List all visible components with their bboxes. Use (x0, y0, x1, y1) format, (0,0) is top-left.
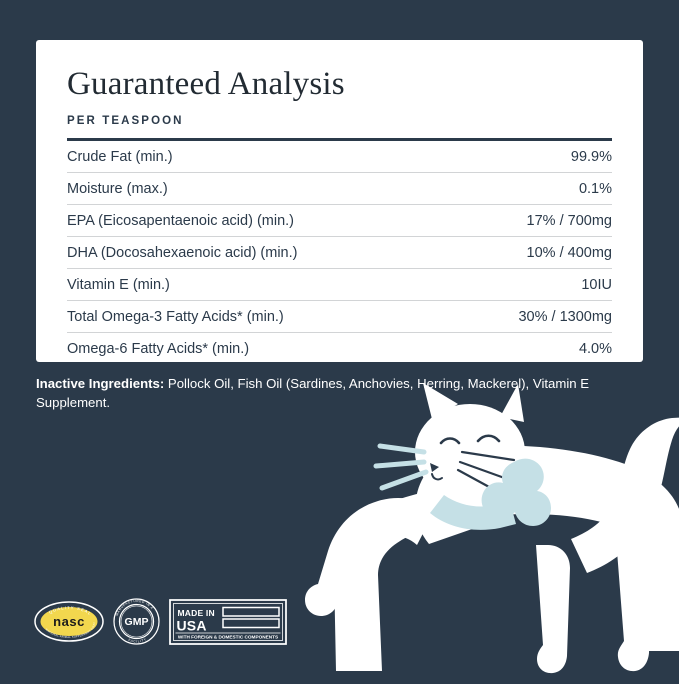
nutrient-value: 10IU (455, 269, 612, 301)
nutrient-label: Crude Fat (min.) (67, 141, 455, 173)
table-row: Crude Fat (min.) 99.9% (67, 141, 612, 173)
nutrient-label: Moisture (max.) (67, 173, 455, 205)
nutrient-value: 30% / 1300mg (455, 301, 612, 333)
gmp-main-text: GMP (125, 616, 149, 628)
inactive-ingredients: Inactive Ingredients: Pollock Oil, Fish … (36, 374, 636, 412)
table-row: Omega-6 Fatty Acids* (min.) 4.0% (67, 333, 612, 365)
usa-line2: USA (177, 617, 207, 633)
usa-line3: WITH FOREIGN & DOMESTIC COMPONENTS (178, 634, 278, 639)
nutrient-value: 0.1% (455, 173, 612, 205)
page-title: Guaranteed Analysis (67, 40, 612, 102)
table-row: Moisture (max.) 0.1% (67, 173, 612, 205)
guaranteed-analysis-card: Guaranteed Analysis PER TEASPOON Crude F… (36, 40, 643, 362)
table-row: Total Omega-3 Fatty Acids* (min.) 30% / … (67, 301, 612, 333)
nasc-badge-icon: QUALITY SEAL nasc NATIONAL ANIMAL SUPPLE… (34, 601, 104, 642)
gmp-badge-icon: MANUFACTURED IN A GMP FACILITY (113, 598, 160, 645)
nutrient-label: Total Omega-3 Fatty Acids* (min.) (67, 301, 455, 333)
nutrient-value: 99.9% (455, 141, 612, 173)
certification-badges: QUALITY SEAL nasc NATIONAL ANIMAL SUPPLE… (34, 598, 287, 645)
serving-size-label: PER TEASPOON (67, 115, 612, 127)
table-row: DHA (Docosahexaenoic acid) (min.) 10% / … (67, 237, 612, 269)
table-row: EPA (Eicosapentaenoic acid) (min.) 17% /… (67, 205, 612, 237)
nutrient-label: Omega-6 Fatty Acids* (min.) (67, 333, 455, 365)
usa-line1: MADE IN (178, 608, 215, 618)
nutrient-value: 10% / 400mg (455, 237, 612, 269)
nutrition-table: Crude Fat (min.) 99.9% Moisture (max.) 0… (67, 141, 612, 364)
table-row: Vitamin E (min.) 10IU (67, 269, 612, 301)
cat-rear-leg-near (536, 545, 570, 673)
made-in-usa-badge-icon: MADE IN USA WITH FOREIGN & DOMESTIC COMP… (169, 599, 287, 645)
nutrient-label: Vitamin E (min.) (67, 269, 455, 301)
nasc-main-text: nasc (53, 614, 85, 629)
nutrient-value: 4.0% (455, 333, 612, 365)
nutrient-value: 17% / 700mg (455, 205, 612, 237)
product-label: Guaranteed Analysis PER TEASPOON Crude F… (0, 0, 679, 679)
nutrient-label: EPA (Eicosapentaenoic acid) (min.) (67, 205, 455, 237)
inactive-ingredients-label: Inactive Ingredients: (36, 376, 164, 391)
nutrient-label: DHA (Docosahexaenoic acid) (min.) (67, 237, 455, 269)
